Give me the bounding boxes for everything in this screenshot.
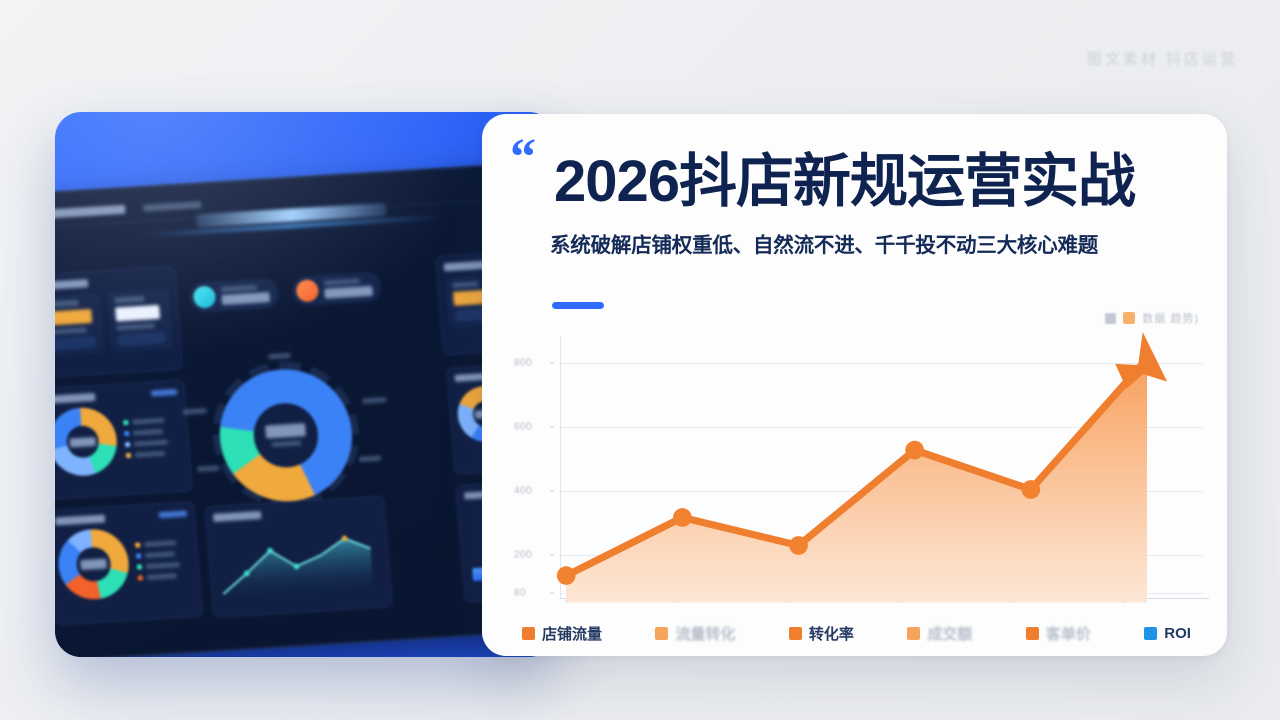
kpi-chip: [291, 271, 382, 306]
kpi-sublabel: [55, 327, 87, 334]
page-subtitle: 系统破解店铺权重低、自然流不进、千千投不动三大核心难题: [550, 228, 1227, 258]
data-point: [789, 536, 808, 555]
legend-swatch-icon: [1026, 627, 1039, 640]
gauge-label: [271, 440, 301, 447]
legend-item-3[interactable]: 成交额: [907, 623, 972, 644]
slide-stage: 图文素材 抖店运营: [0, 0, 1280, 720]
legend-swatch-icon: [655, 627, 668, 640]
mini-area-chart: [214, 523, 383, 600]
y-tick-label: 600: [514, 422, 532, 433]
trend-card-title: [213, 511, 262, 522]
legend-label: ROI: [1164, 625, 1191, 642]
data-point: [1021, 480, 1040, 499]
quote-mark-icon: “: [510, 132, 536, 184]
kpi-tile: [55, 292, 104, 357]
series-swatch-icon: [1123, 312, 1135, 324]
dashboard-title-glow: [142, 215, 442, 236]
legend-swatch-icon: [1144, 627, 1157, 640]
donut-card-3: [55, 501, 203, 626]
content-card: “ 2026抖店新规运营实战 系统破解店铺权重低、自然流不进、千千投不动三大核心…: [482, 114, 1227, 656]
legend-item-0[interactable]: 店铺流量: [522, 623, 602, 644]
kpi-chip-row: [188, 271, 382, 313]
gauge-tick-ring: [207, 357, 364, 511]
donut-center-value: [69, 436, 96, 447]
donut-card-1: [55, 379, 193, 500]
kpi-value: [55, 309, 92, 326]
legend-item-1[interactable]: 流量转化: [655, 623, 735, 644]
donut-card-action: [151, 389, 177, 397]
area-series-chart: [560, 336, 1203, 609]
legend-item-2[interactable]: 转化率: [789, 623, 854, 644]
trend-area-card: [204, 495, 393, 618]
y-tick-label: 800: [514, 358, 532, 369]
gauge-widget: [185, 350, 388, 521]
dashboard-topbar: [55, 170, 555, 229]
watermark-text: 图文素材 抖店运营: [1087, 48, 1238, 69]
legend-swatch-icon: [522, 627, 535, 640]
data-point: [673, 508, 692, 527]
legend-label: 成交额: [927, 623, 972, 644]
chip-label: [324, 279, 360, 286]
kpi-value: [115, 305, 160, 322]
chart-legend: 店铺流量 流量转化 转化率 成交额 客单价: [522, 623, 1191, 644]
chip-value: [324, 286, 373, 299]
donut-card-title: [55, 393, 96, 404]
donut-card-action: [159, 511, 187, 519]
data-point: [557, 566, 576, 585]
chip-value: [221, 292, 270, 305]
kpi-label: [452, 281, 478, 288]
chip-label: [221, 285, 257, 292]
donut-legend: [135, 540, 181, 581]
kpi-label: [114, 296, 144, 304]
metric-circle-icon: [295, 279, 319, 302]
chart-container: 数据 趋势) 800 600 400 200 80: [500, 304, 1213, 656]
kpi-action-pill: [55, 336, 97, 351]
metric-circle-icon: [193, 285, 217, 308]
chart-toolbar-label: 数据 趋势): [1142, 310, 1199, 326]
kpi-tile: [106, 288, 173, 353]
y-tick-label: 400: [514, 486, 532, 497]
legend-item-5[interactable]: ROI: [1144, 625, 1191, 642]
legend-label: 店铺流量: [542, 623, 602, 644]
dashboard-title-banner: [196, 203, 387, 228]
gauge-ring: [215, 366, 357, 506]
page-title: 2026抖店新规运营实战: [554, 152, 1214, 212]
legend-label: 客单价: [1046, 623, 1091, 644]
legend-swatch-icon: [789, 627, 802, 640]
data-point: [905, 441, 924, 460]
gauge-value: [265, 423, 306, 438]
donut-card-title: [55, 515, 105, 526]
donut-chart: [56, 527, 131, 601]
legend-label: 流量转化: [675, 623, 735, 644]
y-tick-label: 200: [514, 550, 532, 561]
chart-plot-area: 800 600 400 200 80: [516, 344, 1203, 599]
kpi-chip: [188, 278, 279, 313]
donut-legend: [123, 418, 169, 459]
dashboard-mockup: [55, 160, 555, 657]
kpi-card-title: [55, 279, 88, 290]
kpi-action-pill: [117, 332, 166, 347]
dashboard-brand-text: [55, 205, 126, 219]
legend-item-4[interactable]: 客单价: [1026, 623, 1091, 644]
chart-toolbar[interactable]: 数据 趋势): [1105, 310, 1199, 326]
dashboard-grid: [55, 220, 555, 649]
donut-center-value: [80, 559, 107, 571]
dashboard-showcase-panel: [55, 112, 555, 657]
y-tick-label: 80: [514, 588, 526, 599]
legend-swatch-icon: [907, 627, 920, 640]
donut-chart: [55, 406, 119, 478]
legend-label: 转化率: [809, 623, 854, 644]
kpi-sublabel: [116, 323, 154, 330]
grid-icon[interactable]: [1105, 313, 1116, 324]
dashboard-nav-text: [143, 201, 201, 212]
kpi-card-left: [55, 266, 183, 379]
kpi-label: [55, 300, 79, 308]
